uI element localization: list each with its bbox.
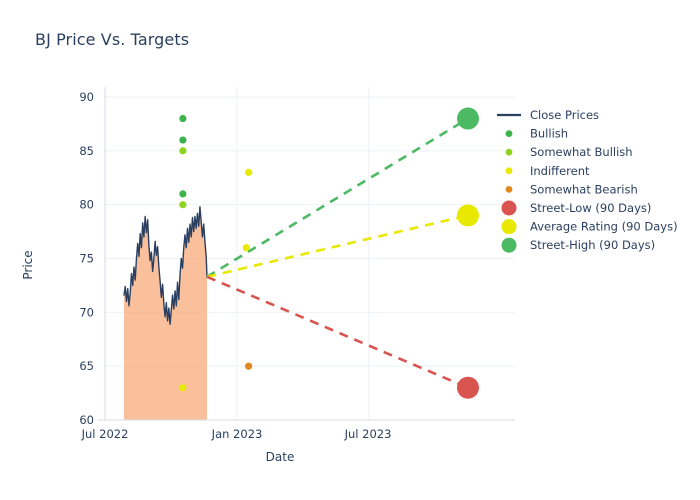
y-tick-label: 65: [79, 359, 94, 373]
price-target-marker[interactable]: [457, 204, 479, 226]
chart-container: BJ Price Vs. Targets 60657075808590 Jul …: [0, 0, 700, 500]
x-tick-labels: Jul 2022Jan 2023Jul 2023: [81, 427, 392, 441]
analyst-rating-dot[interactable]: [245, 169, 252, 176]
legend-marker-dot: [506, 186, 513, 193]
legend-marker-dot: [502, 238, 517, 253]
price-target-marker[interactable]: [457, 108, 479, 130]
y-axis-title: Price: [21, 250, 35, 279]
analyst-rating-dot[interactable]: [243, 244, 250, 251]
y-tick-label: 80: [79, 198, 94, 212]
x-tick-label: Jan 2023: [211, 427, 263, 441]
legend-item-label[interactable]: Somewhat Bullish: [530, 145, 633, 159]
target-projection-lines: [207, 119, 468, 388]
legend-marker-dot: [506, 149, 513, 156]
y-tick-label: 85: [79, 144, 94, 158]
analyst-rating-dot[interactable]: [179, 136, 186, 143]
legend-marker-dot: [502, 201, 517, 216]
y-tick-labels: 60657075808590: [79, 90, 94, 427]
legend-item-label[interactable]: Street-High (90 Days): [530, 238, 655, 252]
chart-legend[interactable]: Close PricesBullishSomewhat BullishIndif…: [497, 108, 678, 253]
legend-item-label[interactable]: Indifferent: [530, 164, 590, 178]
analyst-rating-dot[interactable]: [179, 190, 186, 197]
x-axis-title: Date: [266, 450, 295, 464]
legend-item-label[interactable]: Average Rating (90 Days): [530, 220, 678, 234]
y-tick-label: 90: [79, 90, 94, 104]
analyst-rating-dot[interactable]: [179, 384, 186, 391]
analyst-rating-dot[interactable]: [179, 147, 186, 154]
legend-item-label[interactable]: Street-Low (90 Days): [530, 201, 651, 215]
legend-item-label[interactable]: Somewhat Bearish: [530, 182, 638, 196]
target-projection-line: [207, 277, 468, 388]
price-target-marker[interactable]: [457, 377, 479, 399]
y-tick-label: 75: [79, 252, 94, 266]
legend-marker-dot: [502, 219, 517, 234]
x-tick-label: Jul 2022: [81, 427, 129, 441]
y-tick-label: 60: [79, 413, 94, 427]
x-tick-label: Jul 2023: [344, 427, 392, 441]
analyst-rating-dot[interactable]: [245, 363, 252, 370]
analyst-rating-dot[interactable]: [179, 201, 186, 208]
legend-item-label[interactable]: Close Prices: [530, 108, 599, 122]
y-tick-label: 70: [79, 305, 94, 319]
legend-item-label[interactable]: Bullish: [530, 127, 568, 141]
target-projection-line: [207, 119, 468, 277]
legend-marker-dot: [506, 130, 513, 137]
analyst-rating-dot[interactable]: [179, 115, 186, 122]
chart-plot-svg: 60657075808590 Jul 2022Jan 2023Jul 2023 …: [0, 0, 700, 500]
legend-marker-dot: [506, 167, 513, 174]
